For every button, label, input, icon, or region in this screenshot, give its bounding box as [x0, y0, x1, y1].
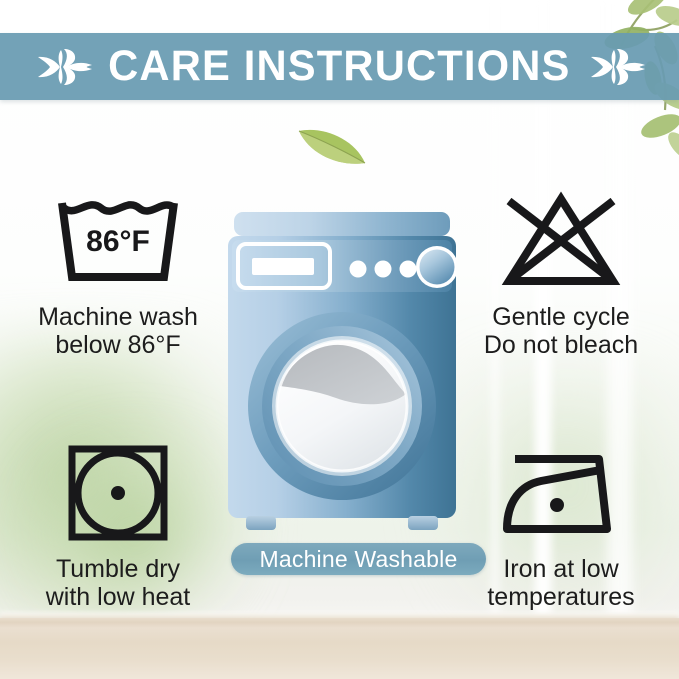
- washing-machine-illustration: [228, 210, 456, 535]
- wash-temperature-text: 86°F: [86, 225, 150, 258]
- instruction-label: Tumble dry with low heat: [3, 555, 233, 611]
- instruction-gentle-cycle-no-bleach: Gentle cycle Do not bleach: [446, 185, 676, 359]
- washer-foot: [408, 516, 438, 530]
- instruction-label: Machine wash below 86°F: [3, 303, 233, 359]
- machine-washable-badge: Machine Washable: [231, 543, 486, 575]
- tumble-dry-low-icon: [3, 437, 233, 549]
- washer-foot: [246, 516, 276, 530]
- washer-knob: [420, 250, 455, 285]
- washer-indicator-light: [375, 261, 392, 278]
- fleur-de-lis-icon: [30, 44, 96, 90]
- washer-indicator-light: [350, 261, 367, 278]
- header-banner: CARE INSTRUCTIONS: [0, 33, 679, 100]
- instruction-label: Gentle cycle Do not bleach: [446, 303, 676, 359]
- instruction-iron-low: Iron at low temperatures: [446, 437, 676, 611]
- fleur-de-lis-icon: [583, 44, 649, 90]
- washer-drawer-slot: [252, 258, 314, 275]
- iron-low-icon: [446, 437, 676, 549]
- wooden-table-surface: [0, 618, 679, 679]
- floating-leaf-icon: [296, 122, 368, 168]
- wash-tub-icon: 86°F: [3, 185, 233, 297]
- washer-lid: [234, 212, 450, 236]
- do-not-bleach-triangle-icon: [446, 185, 676, 297]
- instruction-machine-wash: 86°F Machine wash below 86°F: [3, 185, 233, 359]
- page-title: CARE INSTRUCTIONS: [108, 45, 570, 88]
- badge-label: Machine Washable: [260, 548, 458, 571]
- instruction-tumble-dry-low: Tumble dry with low heat: [3, 437, 233, 611]
- washer-indicator-light: [400, 261, 417, 278]
